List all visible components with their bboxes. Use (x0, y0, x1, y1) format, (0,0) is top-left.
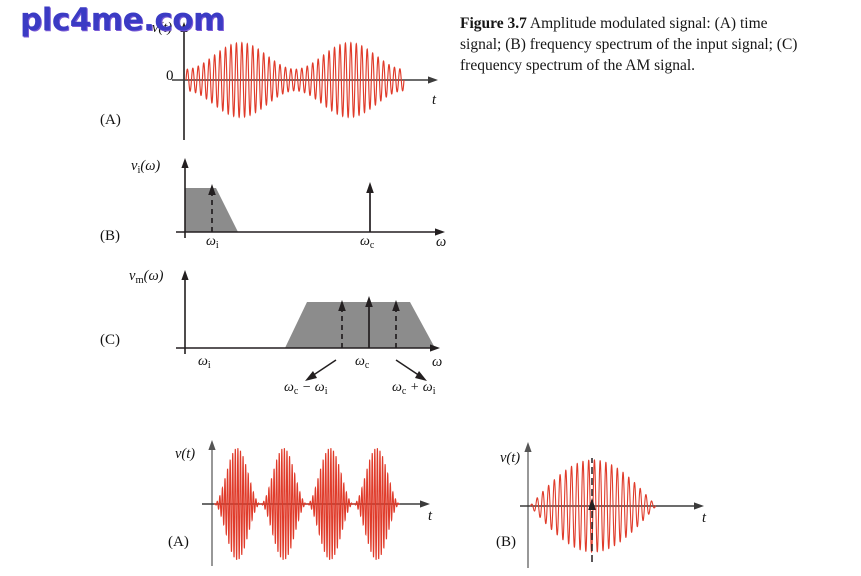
panel-b-label: (B) (100, 228, 120, 245)
panel-c-tick-lower-sideband: ωc − ωi (284, 380, 327, 397)
panel-bottom-a-y-axis-label: v(t) (175, 446, 195, 463)
panel-c-tick-upper-sideband: ωc + ωi (392, 380, 435, 397)
panel-c-leader-lower-sideband (305, 360, 336, 381)
figure-page: plc4me.com Figure 3.7 Amplitude modulate… (0, 0, 861, 576)
panel-bottom-a-y-axis (208, 440, 215, 566)
panel-c-tick-omega-c: ωc (355, 354, 369, 371)
panel-c-x-axis-label: ω (432, 354, 442, 371)
watermark-plc4me: plc4me.com (20, 2, 225, 38)
panel-bottom-a-waveform (214, 448, 400, 560)
panel-b-y-axis-label: vi(ω) (131, 158, 160, 176)
panel-c-leader-upper-sideband (396, 360, 427, 381)
panel-a-label: (A) (100, 112, 121, 129)
figure-number: Figure 3.7 (460, 15, 527, 32)
panel-c-y-axis (181, 270, 188, 354)
panel-b-arrow-omega-c (366, 182, 374, 232)
panel-c-y-axis-label: vm(ω) (129, 268, 164, 286)
panel-c-tick-omega-i: ωi (198, 354, 211, 371)
panel-b-tick-omega-c: ωc (360, 234, 374, 251)
panel-a-x-axis-label: t (432, 92, 436, 109)
panel-c-label: (C) (100, 332, 120, 349)
panel-bottom-a-plot (150, 432, 470, 576)
panel-b-tick-omega-i: ωi (206, 234, 219, 251)
panel-bottom-a-full-modulation: (A) v(t) t (150, 432, 470, 576)
panel-b-input-spectrum: (B) vi(ω) ωi ωc ω (0, 150, 470, 262)
panel-bottom-a-label: (A) (168, 534, 189, 551)
panel-bottom-b-label: (B) (496, 534, 516, 551)
panel-bottom-a-x-axis-label: t (428, 508, 432, 525)
panel-b-x-axis-label: ω (436, 234, 446, 251)
panel-bottom-b-y-axis-label: v(t) (500, 450, 520, 467)
panel-b-plot (0, 150, 470, 262)
panel-bottom-b-x-axis-label: t (702, 510, 706, 527)
figure-caption: Figure 3.7 Amplitude modulated signal: (… (460, 14, 800, 77)
panel-c-sideband-trapezoid (285, 302, 435, 348)
panel-a-zero-label: 0 (166, 68, 174, 85)
panel-bottom-b-plot (480, 432, 760, 576)
panel-a-waveform (186, 43, 404, 117)
panel-a-y-axis (180, 22, 187, 140)
panel-bottom-b-dsb: (B) v(t) t (480, 432, 760, 576)
panel-c-am-spectrum: (C) vm(ω) ωi ωc ω ωc − ωi ωc + ωi (0, 262, 480, 412)
